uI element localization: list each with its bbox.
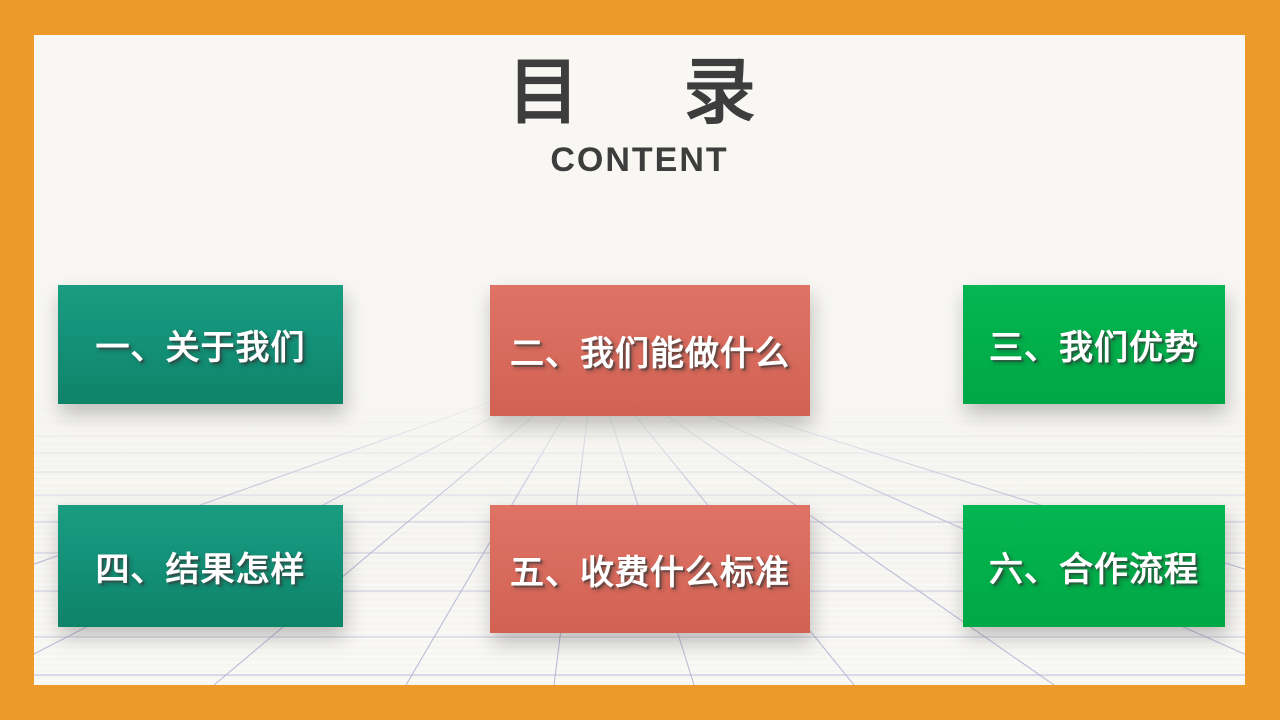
toc-card-4-label: 四、结果怎样 — [96, 542, 306, 591]
toc-card-3-label: 三、我们优势 — [989, 320, 1199, 369]
toc-card-6[interactable]: 六、合作流程 — [963, 505, 1225, 627]
toc-card-3[interactable]: 三、我们优势 — [963, 285, 1225, 404]
toc-card-2-label: 二、我们能做什么 — [510, 326, 790, 375]
toc-card-5-label: 五、收费什么标准 — [510, 545, 790, 594]
toc-card-1[interactable]: 一、关于我们 — [58, 285, 343, 404]
toc-card-4[interactable]: 四、结果怎样 — [58, 505, 343, 627]
toc-card-2[interactable]: 二、我们能做什么 — [490, 285, 810, 416]
page-title: 目 录 — [34, 57, 1245, 129]
toc-card-6-label: 六、合作流程 — [989, 542, 1199, 591]
slide-heading: 目 录 CONTENT — [34, 57, 1245, 177]
page-subtitle: CONTENT — [34, 143, 1245, 177]
toc-card-1-label: 一、关于我们 — [96, 320, 306, 369]
toc-card-5[interactable]: 五、收费什么标准 — [490, 505, 810, 633]
slide-inner-panel: 目 录 CONTENT 一、关于我们 二、我们能做什么 三、我们优势 四、结果怎… — [34, 35, 1245, 685]
slide-canvas: 目 录 CONTENT 一、关于我们 二、我们能做什么 三、我们优势 四、结果怎… — [0, 0, 1280, 720]
